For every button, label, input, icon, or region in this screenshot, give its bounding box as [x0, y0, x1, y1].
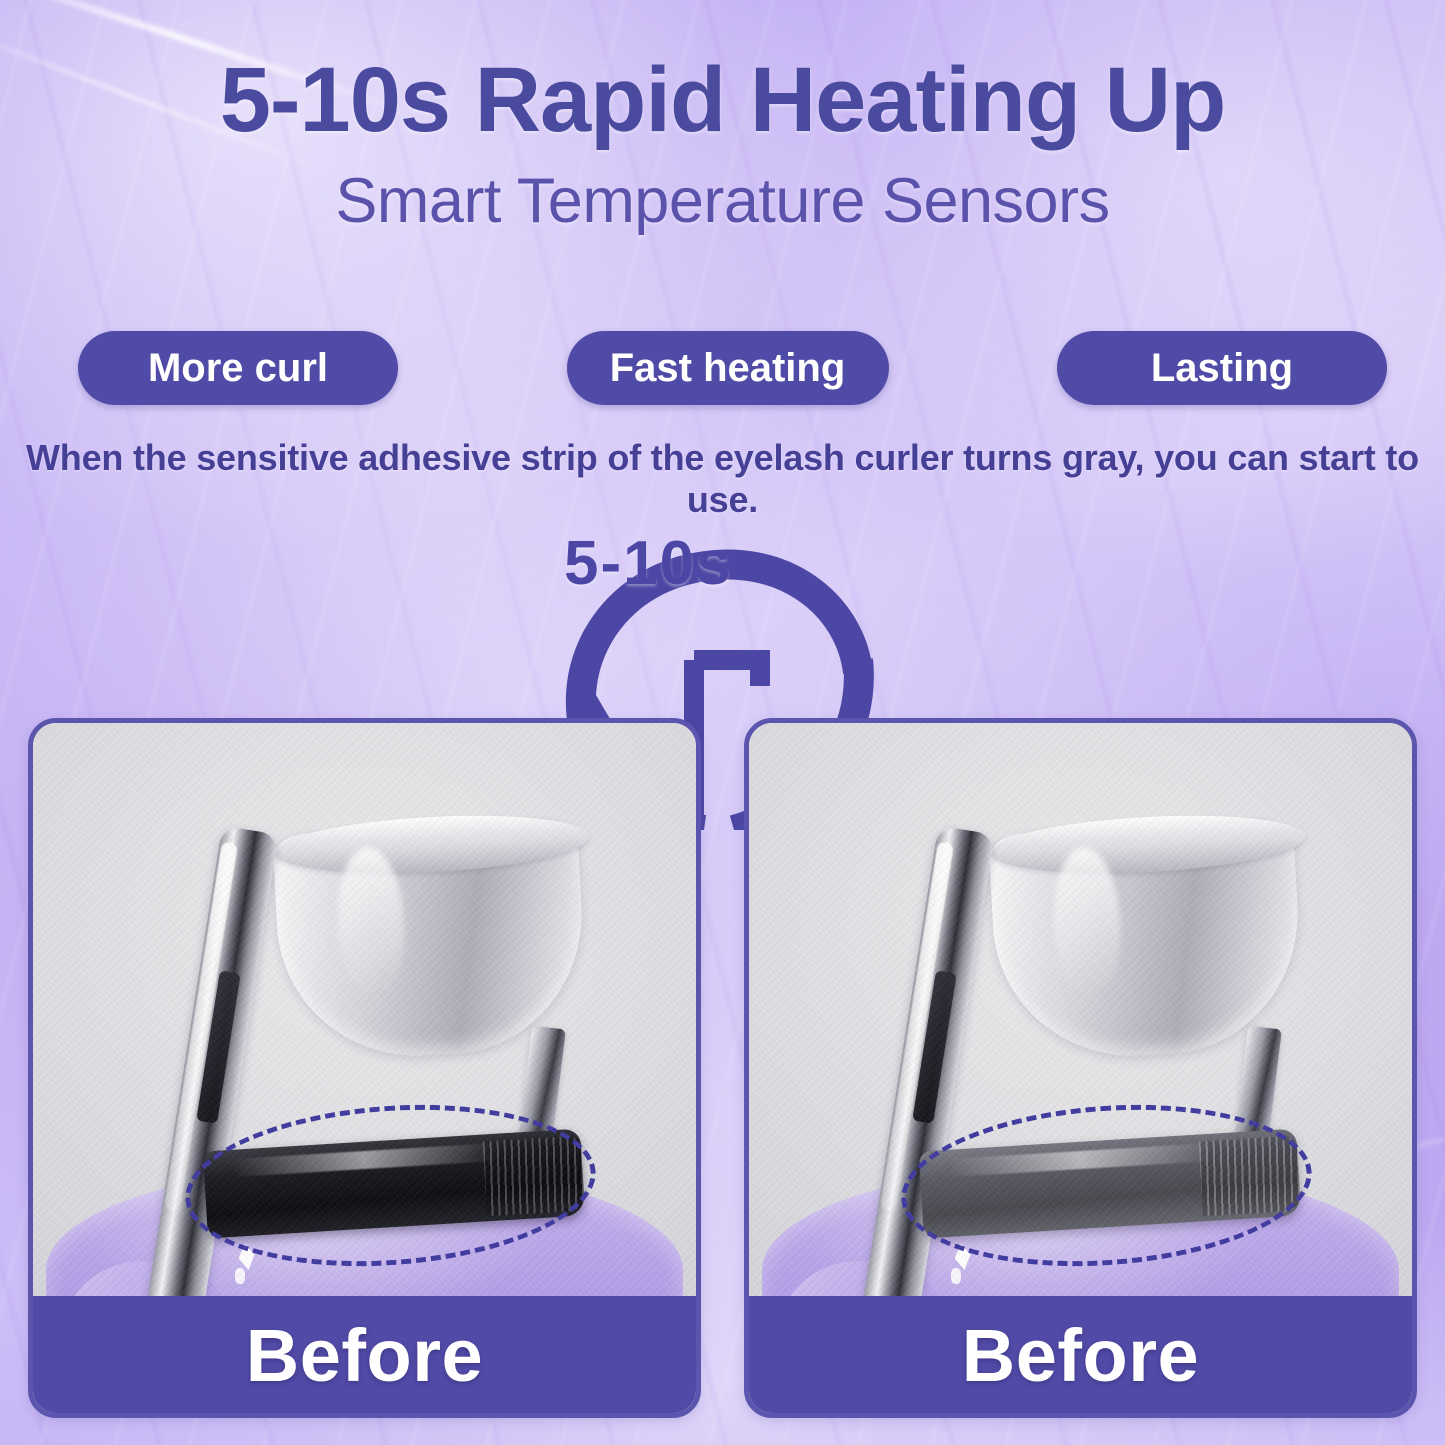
panel-caption-left: Before: [32, 1296, 697, 1414]
dashed-ellipse-annotation: [180, 1092, 601, 1279]
curler-handle: [859, 825, 995, 1338]
curler-cup-rim: [988, 809, 1306, 881]
curler-strut: [1228, 1025, 1282, 1194]
feature-badge-more-curl[interactable]: More curl: [78, 331, 398, 405]
before-after-comparison: Before Before: [28, 718, 1417, 1418]
comparison-panel-left[interactable]: Before: [28, 718, 701, 1418]
feature-badge-lasting[interactable]: Lasting: [1057, 331, 1387, 405]
adhesive-strip-gloss: [948, 1143, 1214, 1177]
dashed-ellipse-annotation: [896, 1092, 1317, 1279]
curler-cup: [273, 819, 589, 1062]
highlight-fleck: [235, 1268, 245, 1284]
curler-handle-highlight: [880, 841, 954, 1211]
header-block: 5-10s Rapid Heating Up Smart Temperature…: [0, 54, 1445, 233]
curler-cup-highlight: [1050, 846, 1124, 1001]
adhesive-strip-black: [203, 1129, 586, 1239]
highlight-fleck: [955, 1244, 971, 1270]
comparison-panel-right[interactable]: Before: [744, 718, 1417, 1418]
description-text: When the sensitive adhesive strip of the…: [0, 437, 1445, 521]
curler-handle-shadow: [912, 971, 957, 1124]
feature-badge-fast-heating[interactable]: Fast heating: [567, 331, 889, 405]
adhesive-strip-gray: [919, 1129, 1302, 1239]
curler-handle-shadow: [196, 971, 241, 1124]
page-title: 5-10s Rapid Heating Up: [0, 54, 1445, 146]
adhesive-strip-gloss: [232, 1143, 498, 1177]
curler-handle: [143, 825, 279, 1338]
panel-caption-right: Before: [748, 1296, 1413, 1414]
highlight-fleck: [239, 1244, 255, 1270]
curler-strut: [512, 1025, 566, 1194]
rotation-timer-label: 5-10s: [564, 528, 733, 599]
feature-badge-row: More curl Fast heating Lasting: [78, 331, 1387, 405]
curler-cup-rim: [272, 809, 590, 881]
page-subtitle: Smart Temperature Sensors: [0, 170, 1445, 233]
curler-handle-highlight: [164, 841, 238, 1211]
product-infographic-poster: 5-10s Rapid Heating Up Smart Temperature…: [0, 0, 1445, 1445]
curler-cup: [989, 819, 1305, 1062]
highlight-fleck: [951, 1268, 961, 1284]
curler-cup-highlight: [334, 846, 408, 1001]
